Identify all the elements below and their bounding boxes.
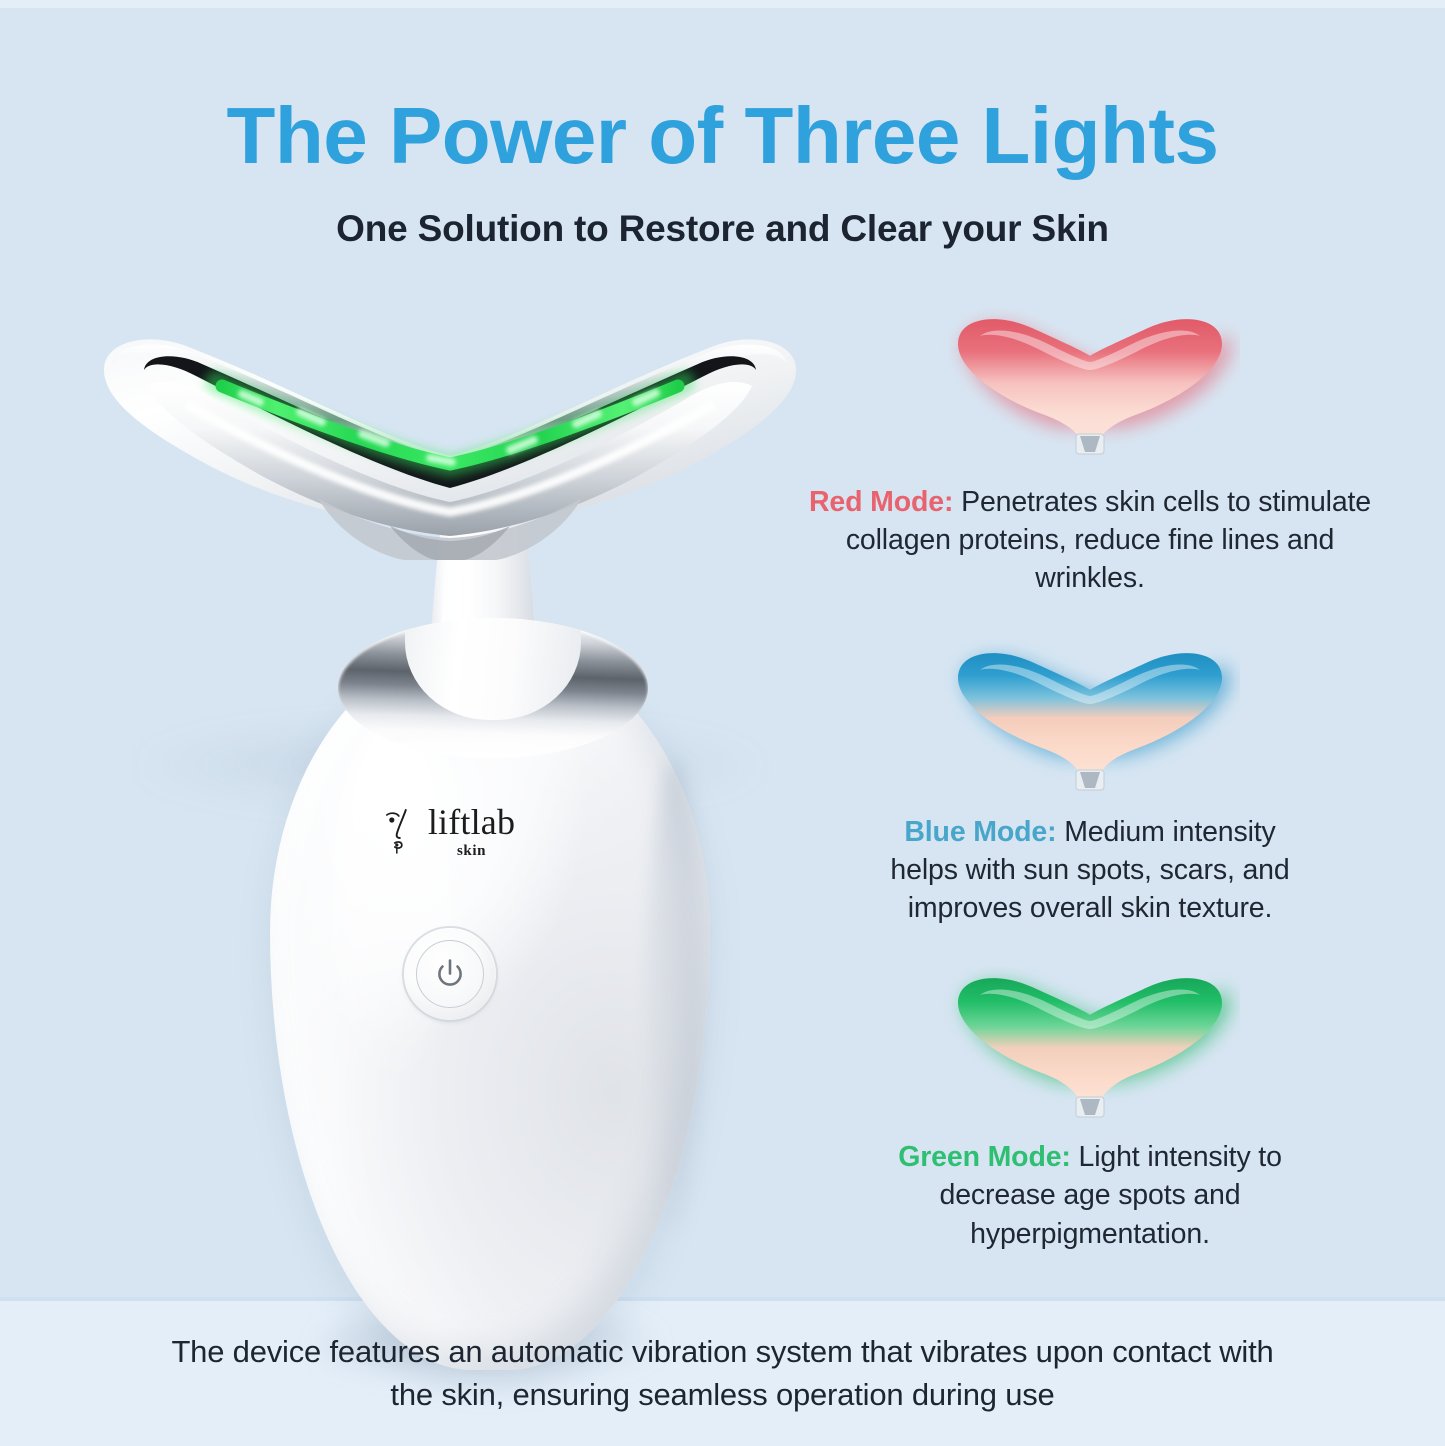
device-head xyxy=(90,330,810,560)
power-button[interactable] xyxy=(404,928,496,1020)
blue-mode-description: Blue Mode: Medium intensity helps with s… xyxy=(790,813,1390,928)
green-mode-label: Green Mode: xyxy=(898,1141,1071,1173)
device-head-green-glow-icon xyxy=(940,967,1240,1122)
red-mode-description: Red Mode: Penetrates skin cells to stimu… xyxy=(790,483,1390,598)
chrome-collar-ring xyxy=(338,618,648,758)
infographic-page: The Power of Three Lights One Solution t… xyxy=(0,0,1445,1446)
device-head-blue-glow-icon xyxy=(940,640,1240,795)
device-head-red-glow-icon xyxy=(940,304,1240,459)
red-mode-label: Red Mode: xyxy=(809,486,953,518)
product-device-illustration: liftlab skin xyxy=(70,300,830,1290)
blue-mode-label: Blue Mode: xyxy=(904,816,1056,848)
power-button-inner xyxy=(416,940,484,1008)
light-modes-list: Red Mode: Penetrates skin cells to stimu… xyxy=(790,300,1390,1263)
page-title: The Power of Three Lights xyxy=(0,96,1445,176)
collar-inner-face xyxy=(405,618,581,720)
header: The Power of Three Lights One Solution t… xyxy=(0,0,1445,250)
footer-caption: The device features an automatic vibrati… xyxy=(163,1331,1283,1415)
page-subtitle: One Solution to Restore and Clear your S… xyxy=(0,208,1445,250)
brand-name: liftlab xyxy=(428,805,515,839)
brand-logo: liftlab skin xyxy=(385,805,515,860)
mode-item-green: Green Mode: Light intensity to decrease … xyxy=(790,967,1390,1253)
green-mode-icon-wrap xyxy=(790,967,1390,1122)
body-highlight xyxy=(332,720,452,1080)
face-profile-icon xyxy=(385,807,419,855)
body-shading xyxy=(648,760,700,1230)
collar-bottom-glow xyxy=(375,732,611,758)
power-icon xyxy=(432,956,468,992)
red-mode-icon-wrap xyxy=(790,304,1390,459)
footer: The device features an automatic vibrati… xyxy=(0,1301,1445,1446)
green-mode-description: Green Mode: Light intensity to decrease … xyxy=(790,1138,1390,1253)
blue-mode-icon-wrap xyxy=(790,640,1390,795)
mode-item-red: Red Mode: Penetrates skin cells to stimu… xyxy=(790,304,1390,598)
mode-item-blue: Blue Mode: Medium intensity helps with s… xyxy=(790,640,1390,928)
brand-subname: skin xyxy=(428,843,515,860)
